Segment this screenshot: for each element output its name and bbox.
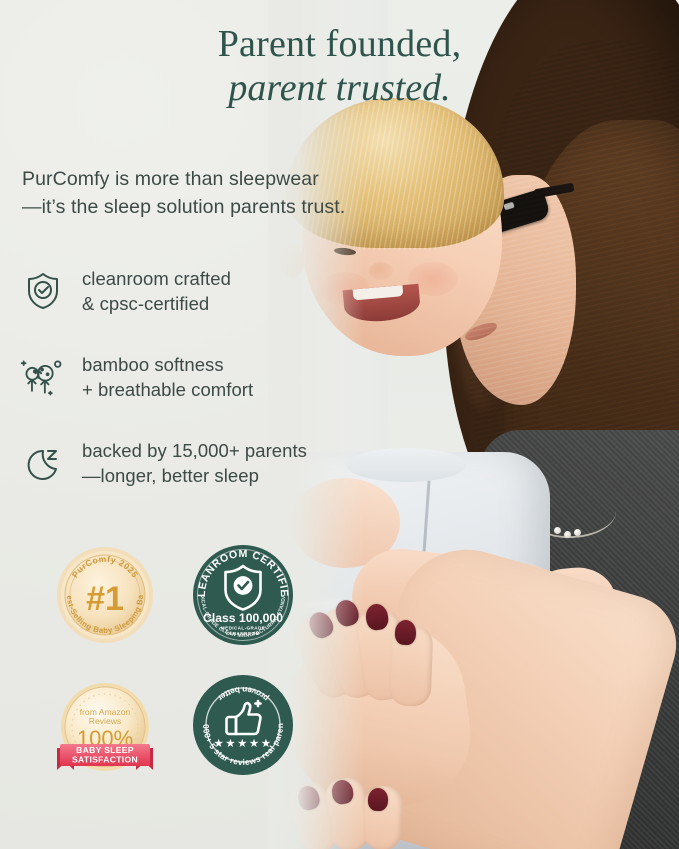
feature-list: cleanroom crafted & cpsc-certified [20, 248, 350, 506]
headline-line-1: Parent founded, [0, 22, 679, 66]
badge-ribbon-line-1: BABY SLEEP [76, 745, 134, 755]
baby-nose [369, 262, 393, 280]
necklace-pearl [554, 527, 561, 534]
feature-line-2: + breathable comfort [82, 377, 253, 402]
trust-badges: PurComfy 2025 Best-Selling Baby Sleeping… [50, 540, 298, 800]
page-title: Parent founded, parent trusted. [0, 22, 679, 110]
feature-item-sleep: backed by 15,000+ parents —longer, bette… [20, 420, 350, 506]
amazon-satisfaction-badge: from Amazon Reviews 100% BABY SLEEP SATI… [50, 670, 160, 780]
subheadline-line-2: —it’s the sleep solution parents trust. [22, 194, 412, 222]
best-seller-badge: PurComfy 2025 Best-Selling Baby Sleeping… [50, 540, 160, 650]
feature-line-2: & cpsc-certified [82, 291, 231, 316]
feature-item-cleanroom: cleanroom crafted & cpsc-certified [20, 248, 350, 334]
subheadline: PurComfy is more than sleepwear —it’s th… [22, 166, 412, 221]
subheadline-line-1: PurComfy is more than sleepwear [22, 166, 412, 194]
cleanroom-certified-badge: CLEANROOM CERTIFIED MEDICAL-GRADE CLEAN … [188, 540, 298, 650]
shield-check-icon [20, 268, 66, 314]
badge-center-value: Class 100,000 [203, 611, 283, 625]
feature-item-bamboo: bamboo softness + breathable comfort [20, 334, 350, 420]
feature-text: bamboo softness + breathable comfort [82, 352, 253, 402]
necklace-pearl [574, 529, 581, 536]
badge-stars: ★★★★★ [213, 738, 272, 750]
bamboo-trees-icon [20, 354, 66, 400]
badge-ribbon-line-2: SATISFACTION [72, 755, 138, 765]
sack-collar [346, 448, 466, 482]
badge-center-value: #1 [86, 580, 124, 618]
marketing-hero-page: Parent founded, parent trusted. PurComfy… [0, 0, 679, 849]
badge-row-bottom: from Amazon Reviews 100% BABY SLEEP SATI… [50, 670, 298, 780]
badge-row-top: PurComfy 2025 Best-Selling Baby Sleeping… [50, 540, 298, 650]
feature-text: cleanroom crafted & cpsc-certified [82, 266, 231, 316]
mother-fingernail [368, 788, 389, 812]
badge-top-line-2: Reviews [89, 716, 121, 726]
feature-text: backed by 15,000+ parents —longer, bette… [82, 438, 307, 488]
reviews-badge: proven better 15,000+ 5 star reviews rea… [188, 670, 298, 780]
headline-line-2: parent trusted. [0, 66, 679, 110]
feature-line-1: backed by 15,000+ parents [82, 438, 307, 463]
feature-line-1: bamboo softness [82, 352, 253, 377]
badge-sub-line-1: MEDICAL-GRADE [221, 626, 265, 631]
mother-fingernail [395, 620, 417, 646]
moon-sleep-icon [20, 440, 66, 486]
feature-line-1: cleanroom crafted [82, 266, 231, 291]
feature-line-2: —longer, better sleep [82, 463, 307, 488]
necklace-pearl [564, 531, 571, 538]
badge-sub-line-2: CLEANROOM [226, 631, 260, 636]
